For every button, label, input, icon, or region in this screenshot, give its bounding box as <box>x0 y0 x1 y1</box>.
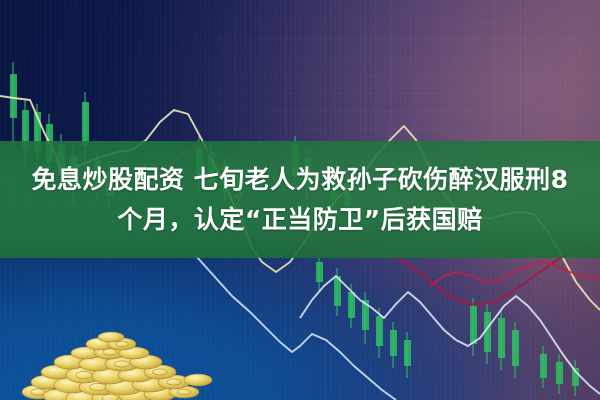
headline-line-2: 个月，认定“正当防卫”后获国赔 <box>117 200 482 240</box>
candle-body <box>376 316 383 346</box>
gold-coin <box>98 332 124 342</box>
candle-body <box>540 354 547 378</box>
news-banner-image: 免息炒股配资 七旬老人为救孙子砍伤醉汉服刑8 个月，认定“正当防卫”后获国赔 <box>0 0 600 400</box>
candle-body <box>404 340 411 366</box>
candle-body <box>348 292 355 318</box>
gold-coin <box>184 374 212 386</box>
trend-line-upper-right-crimson-2 <box>430 262 600 286</box>
candle-body <box>470 306 477 344</box>
candle-body <box>82 102 89 146</box>
headline-band: 免息炒股配资 七旬老人为救孙子砍伤醉汉服刑8 个月，认定“正当防卫”后获国赔 <box>0 141 600 258</box>
candle-body <box>512 330 519 366</box>
candle-body <box>556 362 563 384</box>
headline-line-1: 免息炒股配资 七旬老人为救孙子砍伤醉汉服刑8 <box>31 160 568 200</box>
candle-body <box>390 330 397 356</box>
candle-body <box>498 318 505 358</box>
candle-body <box>10 74 17 118</box>
trend-line-lower-white-trend <box>300 276 600 394</box>
candle-body <box>316 262 323 282</box>
gold-coins-pile <box>8 330 223 400</box>
